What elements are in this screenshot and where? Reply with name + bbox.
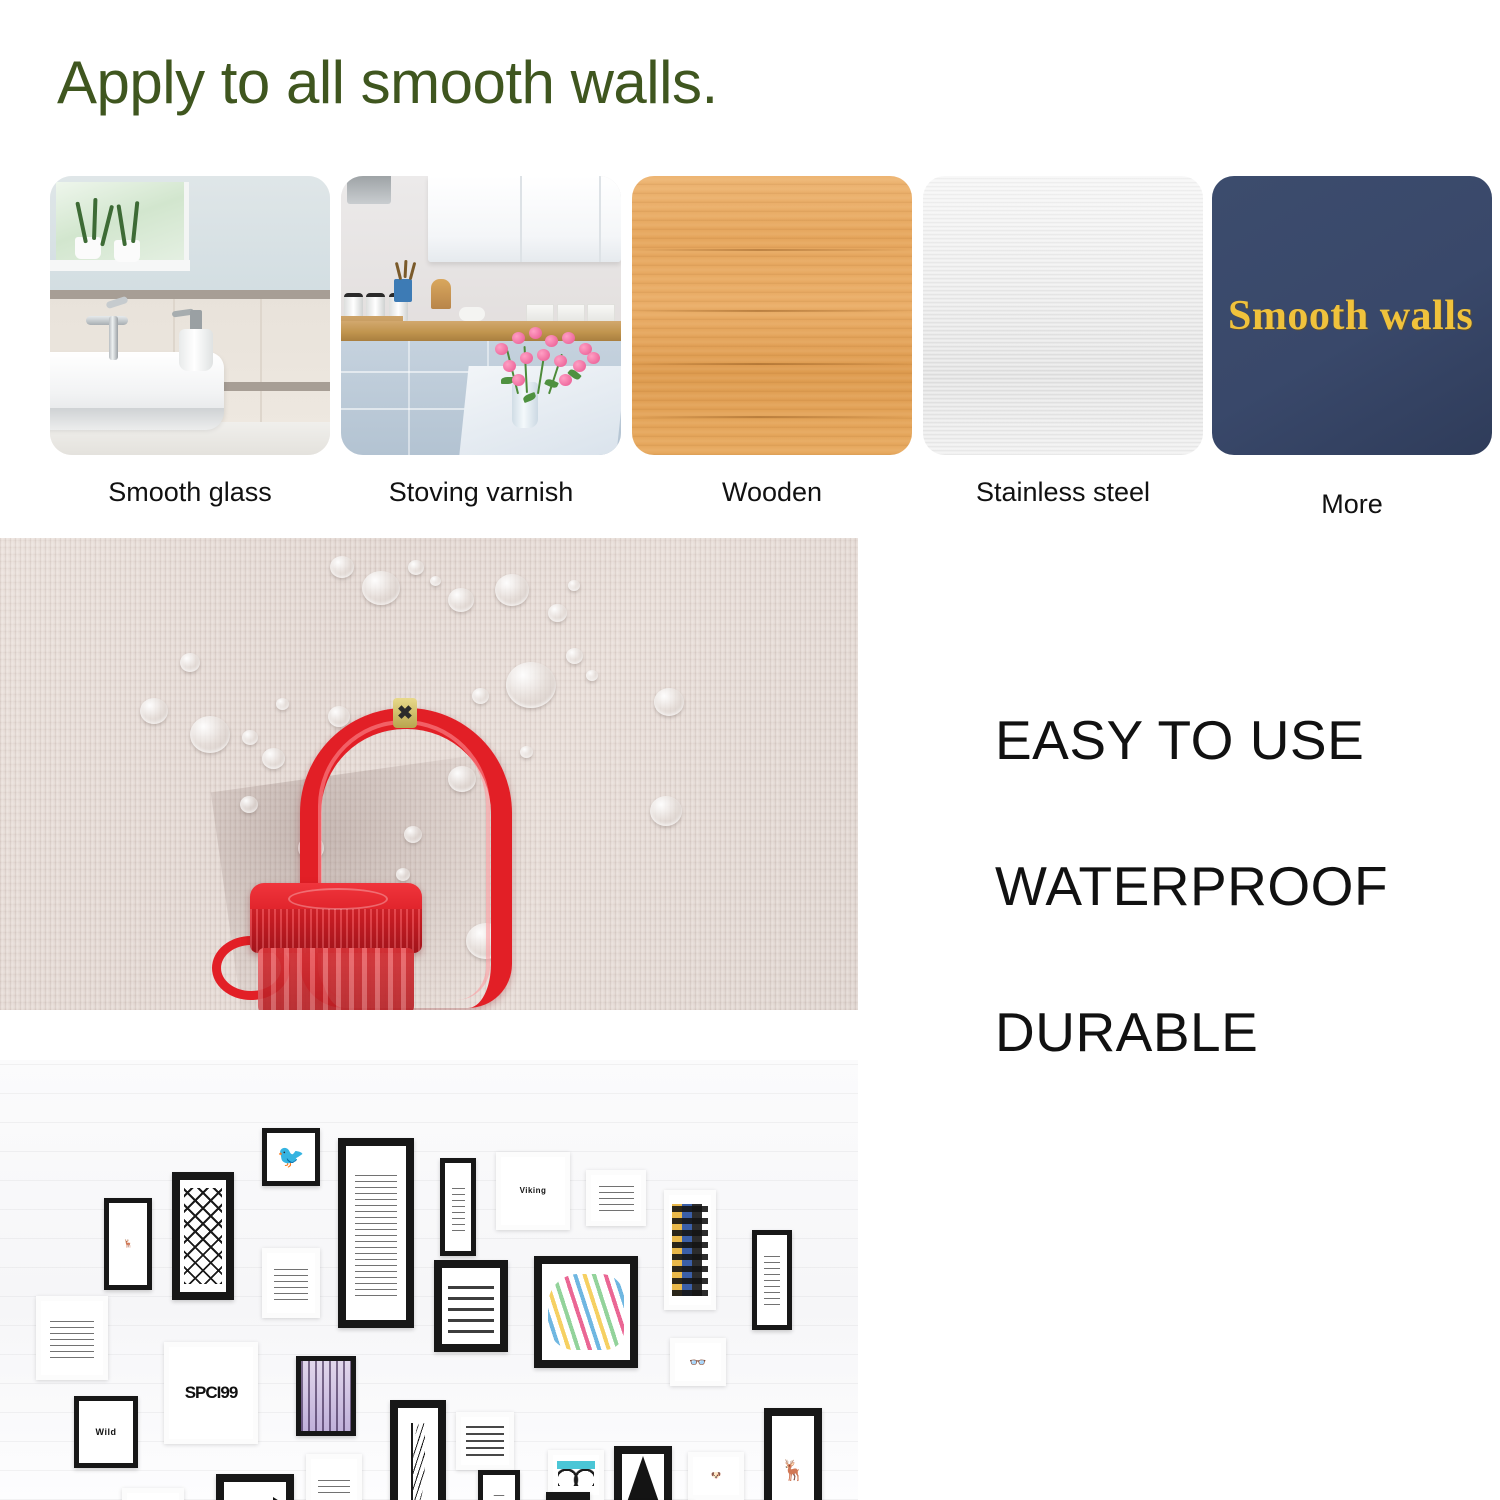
picture-frame — [172, 1172, 234, 1300]
picture-frame: Wild — [74, 1396, 138, 1468]
picture-frame — [440, 1158, 476, 1256]
water-droplet — [472, 688, 489, 704]
bottle-body — [258, 948, 414, 1010]
water-droplet — [262, 748, 285, 769]
water-droplet — [190, 716, 230, 753]
water-droplet — [408, 560, 424, 575]
surface-tile-label: More — [1212, 489, 1492, 520]
frame-text: SPCI99 — [185, 1383, 238, 1403]
picture-frame: SPCI99 — [164, 1342, 258, 1444]
picture-frame — [456, 1412, 514, 1470]
water-droplet — [240, 796, 258, 813]
feature-line: WATERPROOF — [995, 854, 1495, 918]
feature-line: EASY TO USE — [995, 708, 1495, 772]
smooth-glass-thumbnail — [50, 176, 330, 455]
picture-frame: 🦌 — [764, 1408, 822, 1500]
surface-tile-stoving-varnish[interactable]: Stoving varnish — [341, 176, 621, 508]
water-droplet — [276, 698, 289, 710]
stoving-varnish-thumbnail — [341, 176, 621, 455]
picture-frame — [614, 1446, 672, 1500]
picture-frame — [478, 1470, 520, 1500]
page-title: Apply to all smooth walls. — [57, 48, 718, 117]
water-droplet — [568, 580, 580, 591]
screw-icon: ✖ — [393, 698, 417, 728]
picture-frame — [296, 1356, 356, 1436]
frame-text: Wild — [96, 1427, 117, 1437]
stainless-steel-swatch — [923, 176, 1203, 455]
picture-frame: 👓 — [670, 1338, 726, 1386]
water-droplet — [328, 706, 350, 727]
surface-tile-label: Stoving varnish — [341, 477, 621, 508]
picture-frame — [338, 1138, 414, 1328]
picture-frame: LOVE — [216, 1474, 294, 1500]
picture-frame — [434, 1260, 508, 1352]
water-droplet — [448, 588, 474, 612]
picture-frame — [306, 1454, 362, 1500]
water-droplet — [650, 796, 682, 826]
surface-tile-label: Stainless steel — [923, 477, 1203, 508]
picture-frame: 🐦 — [262, 1128, 320, 1186]
picture-frame: Viking — [496, 1152, 570, 1230]
surface-tile-label: Smooth glass — [50, 477, 330, 508]
smooth-walls-overlay-text: Smooth walls — [1228, 292, 1473, 340]
water-droplet — [180, 653, 200, 672]
water-droplet — [654, 688, 684, 716]
surface-tile-label: Wooden — [632, 477, 912, 508]
water-droplet — [506, 662, 556, 708]
picture-frame — [534, 1256, 638, 1368]
feature-line: DURABLE — [995, 1000, 1495, 1064]
picture-frame — [752, 1230, 792, 1330]
surface-tile-more[interactable]: Smooth walls More — [1212, 176, 1492, 520]
surface-tile-wooden[interactable]: Wooden — [632, 176, 912, 508]
water-droplet — [520, 746, 533, 758]
hook-in-use-photo: ✖ — [0, 538, 858, 1010]
picture-frame — [390, 1400, 446, 1500]
water-droplet — [362, 571, 400, 605]
water-droplet — [430, 576, 441, 586]
picture-frame: 🐼 — [122, 1488, 184, 1500]
frame-text: Viking — [520, 1186, 547, 1195]
surface-tile-smooth-glass[interactable]: Smooth glass — [50, 176, 330, 508]
picture-frame: 🦌 — [104, 1198, 152, 1290]
bottle-cap — [250, 883, 422, 953]
water-droplet — [330, 556, 354, 578]
picture-frame: 🐶 — [688, 1452, 744, 1500]
more-swatch: Smooth walls — [1212, 176, 1492, 455]
water-droplet — [242, 730, 258, 745]
picture-frame — [36, 1296, 108, 1380]
water-droplet — [586, 670, 598, 681]
picture-frame — [262, 1248, 320, 1318]
wooden-swatch — [632, 176, 912, 455]
picture-frame — [586, 1170, 646, 1226]
surface-type-strip: Smooth glass — [0, 176, 1500, 516]
water-droplet — [548, 604, 567, 622]
water-droplet — [140, 698, 168, 724]
picture-frame — [664, 1190, 716, 1310]
feature-list: EASY TO USE WATERPROOF DURABLE — [995, 708, 1495, 1146]
water-droplet — [566, 648, 583, 664]
surface-tile-stainless-steel[interactable]: Stainless steel — [923, 176, 1203, 508]
water-droplet — [495, 574, 529, 606]
picture-frame — [546, 1492, 590, 1500]
gallery-wall-photo: 🦌 🐦 Viking 👓 Wild SPCI99 — [0, 1060, 858, 1500]
